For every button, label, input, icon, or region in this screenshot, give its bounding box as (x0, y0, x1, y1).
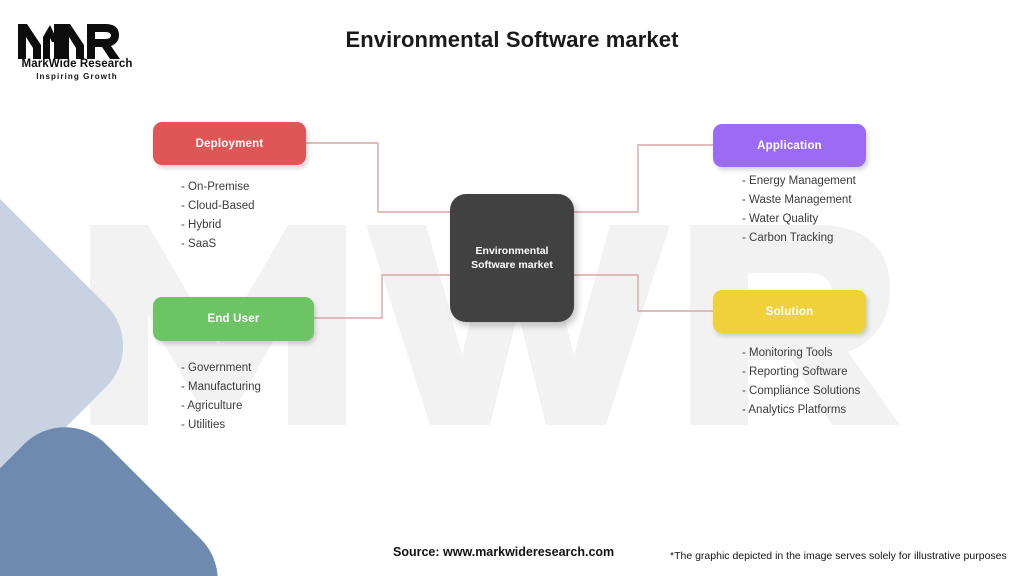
branch-items-end-user: - Government - Manufacturing - Agricultu… (181, 359, 261, 434)
list-item: - Manufacturing (181, 378, 261, 397)
list-item: - Energy Management (742, 172, 856, 191)
list-item: - Hybrid (181, 216, 255, 235)
list-item: - Carbon Tracking (742, 229, 856, 248)
list-item: - Waste Management (742, 191, 856, 210)
disclaimer-text: *The graphic depicted in the image serve… (670, 550, 1007, 562)
connector-deployment (306, 143, 450, 212)
branch-label-solution: Solution (766, 306, 814, 318)
branch-node-end-user[interactable]: End User (153, 297, 314, 341)
list-item: - Agriculture (181, 397, 261, 416)
branch-label-end-user: End User (207, 313, 259, 325)
branch-node-application[interactable]: Application (713, 124, 866, 167)
branch-label-deployment: Deployment (196, 138, 264, 150)
source-attribution: Source: www.markwideresearch.com (393, 545, 614, 559)
connector-end-user (314, 275, 450, 318)
list-item: - On-Premise (181, 178, 255, 197)
slide-canvas: MarkWide Research Inspiring Growth Envir… (0, 0, 1024, 576)
center-node[interactable]: Environmental Software market (450, 194, 574, 322)
connector-application (574, 145, 713, 212)
connector-solution (574, 275, 713, 311)
list-item: - Compliance Solutions (742, 382, 860, 401)
list-item: - Water Quality (742, 210, 856, 229)
list-item: - Monitoring Tools (742, 344, 860, 363)
list-item: - Cloud-Based (181, 197, 255, 216)
list-item: - SaaS (181, 235, 255, 254)
list-item: - Government (181, 359, 261, 378)
list-item: - Utilities (181, 416, 261, 435)
branch-items-application: - Energy Management - Waste Management -… (742, 172, 856, 247)
branch-items-deployment: - On-Premise - Cloud-Based - Hybrid - Sa… (181, 178, 255, 253)
center-node-label-line1: Environmental (468, 244, 557, 258)
branch-label-application: Application (757, 140, 822, 152)
branch-node-deployment[interactable]: Deployment (153, 122, 306, 165)
list-item: - Reporting Software (742, 363, 860, 382)
list-item: - Analytics Platforms (742, 401, 860, 420)
branch-items-solution: - Monitoring Tools - Reporting Software … (742, 344, 860, 419)
center-node-label-line2: Software market (463, 258, 561, 272)
branch-node-solution[interactable]: Solution (713, 290, 866, 333)
